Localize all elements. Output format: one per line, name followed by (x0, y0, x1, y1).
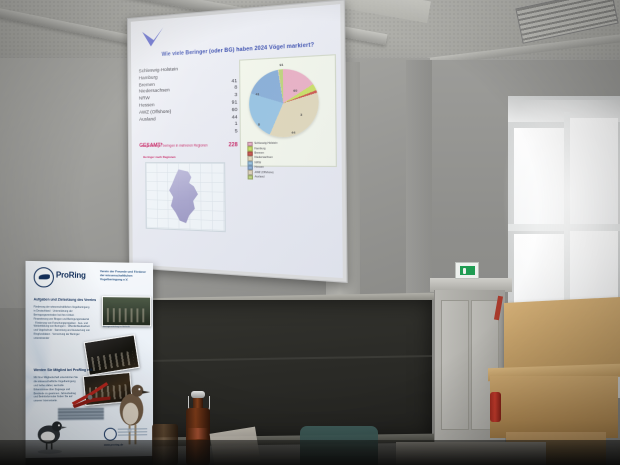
lectern-front (490, 376, 618, 438)
fire-extinguisher (490, 392, 501, 422)
legend-label: Schleswig-Holstein (254, 142, 277, 146)
banner-org-name: ProRing (56, 270, 86, 279)
pie-chart (249, 67, 319, 137)
map-caption: Beringer nach Regionen (143, 155, 227, 159)
row-label: Ausland (139, 117, 156, 124)
legend-label: Niedersachsen (254, 156, 272, 160)
germany-map (145, 162, 226, 232)
photo-people (91, 351, 134, 371)
bottle-swing-cap (191, 391, 205, 398)
exit-green-glyph (460, 266, 475, 275)
pie-slice-label: 60 (293, 88, 297, 93)
legend-label: Ausland (255, 175, 265, 179)
bottle-label (188, 428, 208, 439)
legend-label: Hamburg (254, 147, 265, 151)
banner-photo-caption: Beringerschulung im Gelände (103, 326, 150, 328)
proring-rollup-banner: ProRing Verein der Freunde und Förderer … (26, 261, 154, 459)
window-pane (514, 128, 564, 228)
pie-slice-label: 44 (291, 130, 295, 134)
legend-label: NRW (254, 161, 261, 165)
pie-slice-label: 91 (280, 63, 284, 68)
proring-bird-logo-icon (34, 267, 54, 287)
pie-slice-label: 41 (256, 92, 260, 96)
exit-sign-icon (455, 262, 479, 279)
banner-section2-body: Mit Ihrer Mitgliedschaft unterstützen Si… (34, 376, 78, 404)
pie-chart-panel: 91 60 3 44 41 8 Schleswig-HolsteinHambur… (239, 54, 337, 167)
slide-table: Schleswig-Holstein Hamburg Bremen41 Nied… (139, 64, 238, 150)
presentation-slide: Wie viele Beringer (oder BG) haben 2024 … (131, 4, 343, 278)
window-pane (570, 118, 618, 224)
foreground-shadow (0, 440, 620, 465)
banner-section2-heading: Werden Sie Mitglied bei ProRing e.V. (34, 368, 93, 372)
window-mullion (508, 224, 620, 231)
legend-swatch (248, 175, 253, 180)
partner-logo-text (118, 428, 147, 437)
legend-label: Hessen (255, 166, 264, 170)
legend-label: AWZ (Offshore) (255, 171, 274, 175)
projection-screen: Wie viele Beringer (oder BG) haben 2024 … (127, 0, 348, 283)
photo-people (107, 308, 146, 322)
lecture-hall-photo: Wie viele Beringer (oder BG) haben 2024 … (0, 0, 620, 465)
banner-photo (102, 296, 151, 326)
banner-section1-heading: Aufgaben und Zielsetzung des Vereins (34, 297, 96, 302)
table-row: 5 (139, 129, 237, 137)
slide-footnote: * einige Beringer beringen in mehreren R… (139, 143, 250, 148)
wall-edge (406, 60, 432, 320)
banner-subtitle: Verein der Freunde und Förderer der wiss… (100, 269, 149, 282)
legend-item: Ausland (248, 175, 327, 181)
banner-section1-body: Förderung der wissenschaftlichen Vogelbe… (34, 305, 90, 340)
door-panel (441, 300, 469, 430)
pie-slice-label: 3 (300, 113, 302, 117)
pie-slice-label: 8 (258, 122, 260, 126)
legend-label: Bremen (254, 152, 264, 156)
pie-chart-legend: Schleswig-HolsteinHamburgBremenNiedersac… (247, 141, 326, 180)
checkmark-logo-icon (140, 26, 165, 50)
row-value: 5 (235, 129, 238, 136)
